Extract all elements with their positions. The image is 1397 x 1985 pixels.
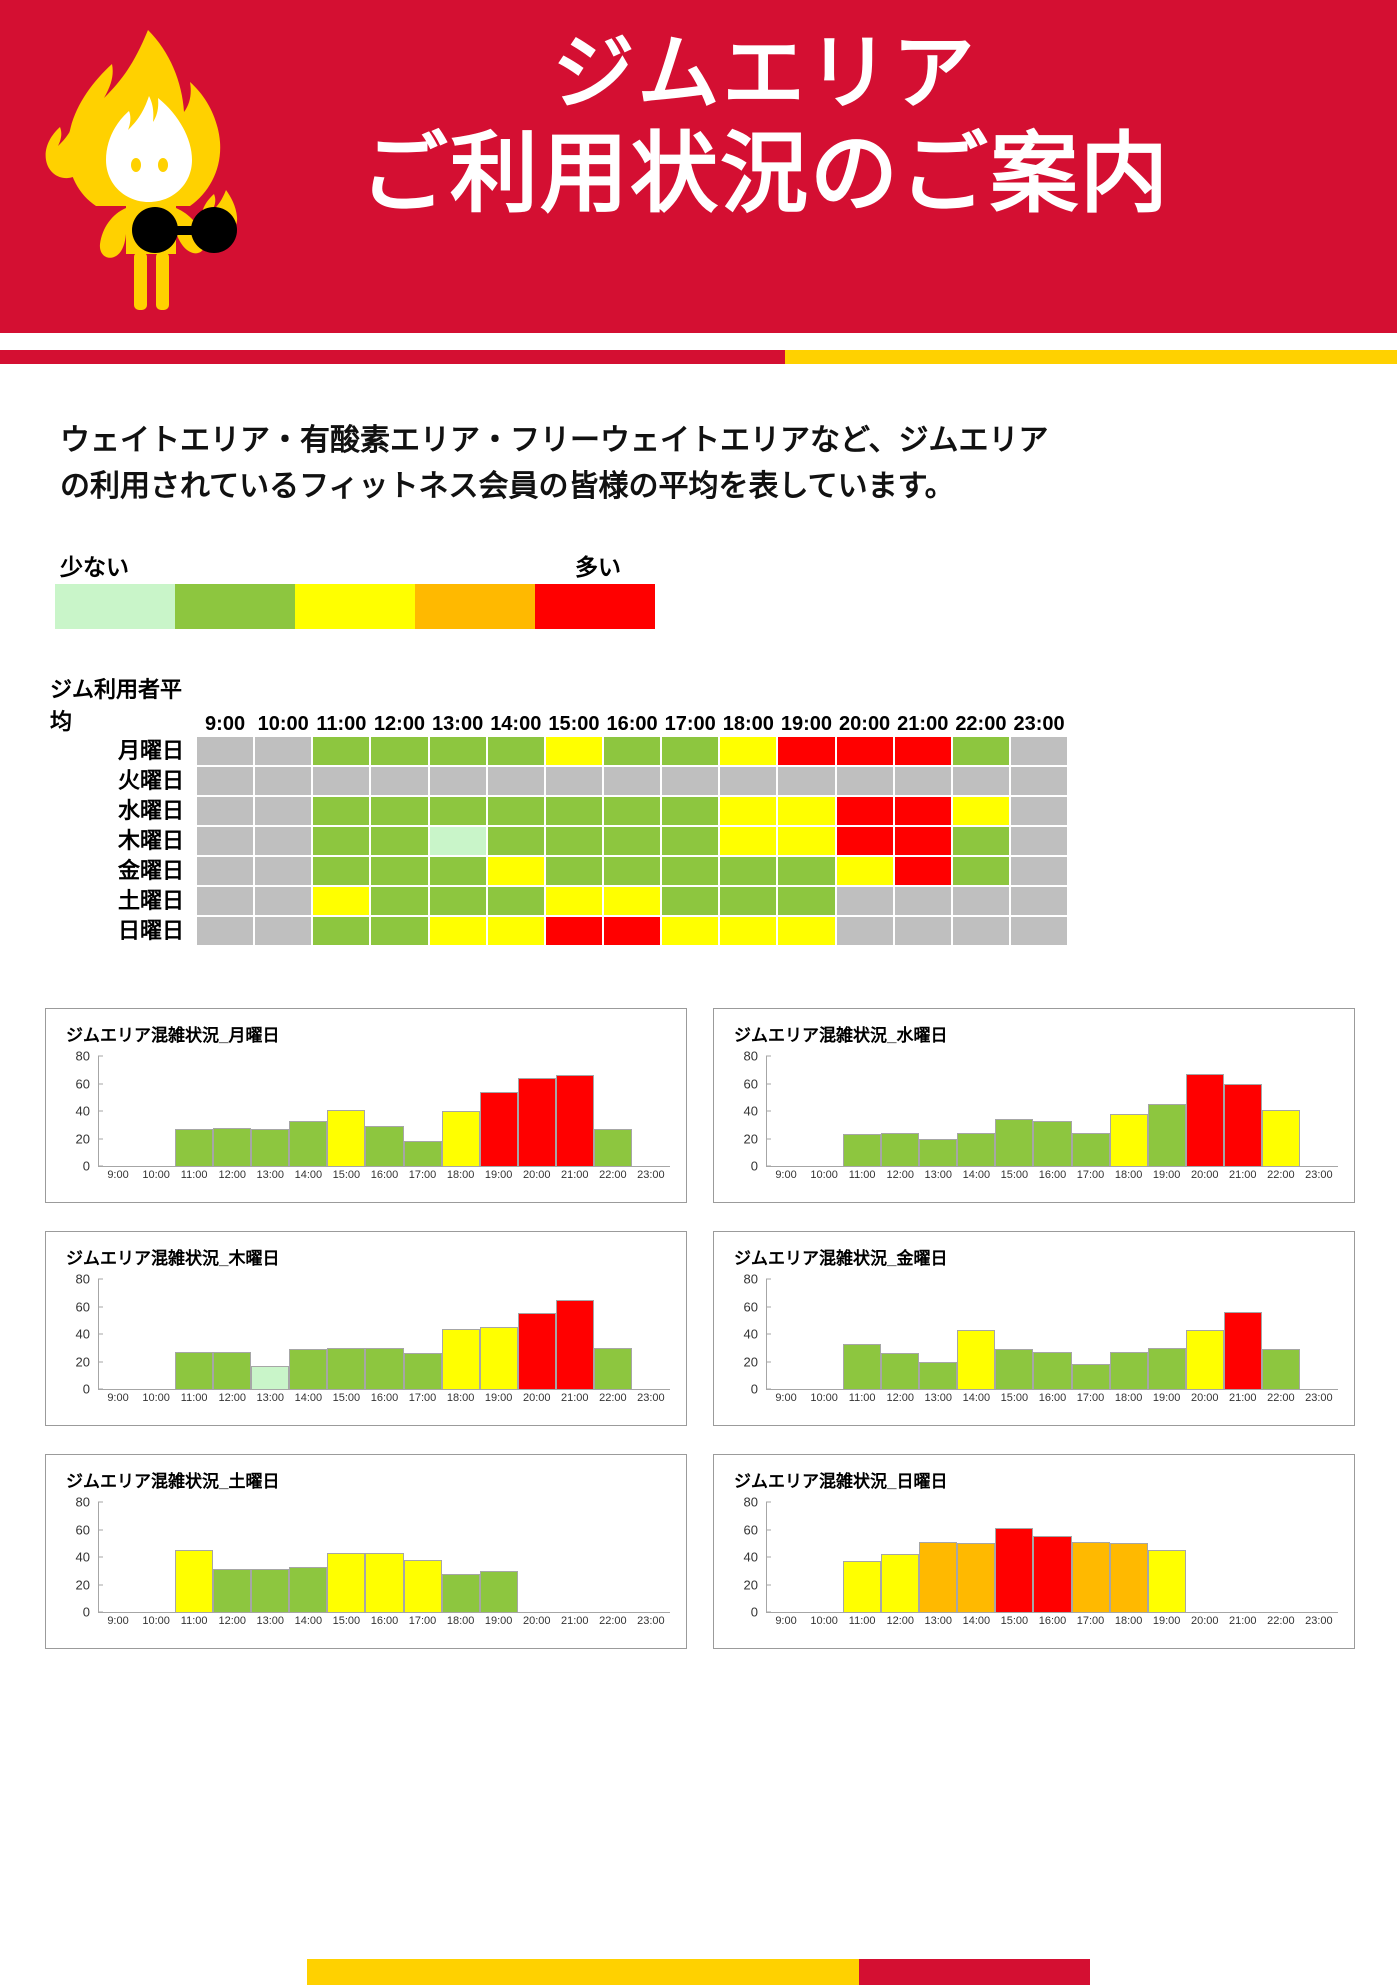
chart-bar[interactable] [251,1129,289,1166]
heatmap-row: 日曜日 [48,916,1068,946]
chart-x-tick: 18:00 [442,1615,480,1627]
heatmap-cell[interactable] [429,796,487,826]
chart-x-tick: 10:00 [137,1169,175,1181]
chart-bar[interactable] [327,1110,365,1166]
chart-bar-slot [1110,1279,1148,1389]
heatmap-cell[interactable] [836,796,894,826]
heatmap-cell[interactable] [836,886,894,916]
heatmap-cell[interactable] [545,916,603,946]
chart-bar[interactable] [843,1561,881,1612]
heatmap-cell[interactable] [661,856,719,886]
heatmap-cell[interactable] [312,916,370,946]
chart-bar[interactable] [957,1543,995,1612]
heatmap-cell[interactable] [370,856,428,886]
chart-x-tick: 10:00 [805,1169,843,1181]
heatmap-cell[interactable] [952,856,1010,886]
heatmap-cell[interactable] [603,826,661,856]
chart-bar[interactable] [1033,1121,1071,1166]
heatmap-cell[interactable] [894,736,952,766]
heatmap-cell[interactable] [777,856,835,886]
heatmap-body: 月曜日火曜日水曜日木曜日金曜日土曜日日曜日 [48,736,1068,946]
heatmap-row: 土曜日 [48,886,1068,916]
chart-bar-slot [213,1056,251,1166]
heatmap-cell[interactable] [894,796,952,826]
heatmap-cell[interactable] [1010,856,1068,886]
heatmap-cell[interactable] [894,886,952,916]
heatmap-cell[interactable] [196,856,254,886]
chart-bar[interactable] [1110,1543,1148,1612]
chart-bar[interactable] [995,1349,1033,1389]
chart-bar-slot [805,1279,843,1389]
chart-bar[interactable] [175,1352,213,1389]
heatmap-cell[interactable] [545,826,603,856]
chart-x-tick: 18:00 [1110,1169,1148,1181]
chart-bar[interactable] [404,1560,442,1612]
chart-x-tick: 20:00 [1186,1392,1224,1404]
chart-bar-slot [175,1502,213,1612]
chart-title: ジムエリア混雑状況_土曜日 [66,1467,676,1492]
heatmap-cell[interactable] [661,886,719,916]
chart-x-tick: 19:00 [1148,1392,1186,1404]
heatmap-time-2100: 21:00 [894,713,952,736]
chart-x-tick: 9:00 [99,1615,137,1627]
chart-x-tick: 17:00 [404,1169,442,1181]
chart-x-tick: 9:00 [767,1169,805,1181]
chart-bar[interactable] [442,1111,480,1166]
heatmap-cell[interactable] [254,856,312,886]
chart-bar[interactable] [919,1139,957,1167]
chart-panel: ジムエリア混雑状況_日曜日0204060809:0010:0011:0012:0… [713,1454,1355,1649]
chart-bar-slot [556,1502,594,1612]
chart-bar-slot [632,1279,670,1389]
heatmap-row: 月曜日 [48,736,1068,766]
legend-segment-4 [535,584,655,629]
heatmap-cell[interactable] [952,916,1010,946]
heatmap-cell[interactable] [429,886,487,916]
chart-bar[interactable] [556,1075,594,1166]
heatmap-cell[interactable] [777,886,835,916]
heatmap-cell[interactable] [952,766,1010,796]
chart-bar[interactable] [919,1542,957,1612]
chart-x-tick: 15:00 [995,1615,1033,1627]
chart-bar-slot [99,1056,137,1166]
chart-bar[interactable] [175,1129,213,1166]
chart-panel: ジムエリア混雑状況_金曜日0204060809:0010:0011:0012:0… [713,1231,1355,1426]
heatmap-cell[interactable] [661,796,719,826]
heatmap-cell[interactable] [429,766,487,796]
heatmap-cell[interactable] [836,826,894,856]
heatmap-cell[interactable] [1010,736,1068,766]
heatmap-cell[interactable] [894,826,952,856]
heatmap-cell[interactable] [370,886,428,916]
chart-x-tick: 10:00 [137,1392,175,1404]
chart-bar[interactable] [289,1349,327,1389]
heatmap-day-label: 土曜日 [48,886,196,916]
heatmap-cell[interactable] [196,736,254,766]
heatmap-cell[interactable] [603,766,661,796]
heatmap-cell[interactable] [312,796,370,826]
chart-bar[interactable] [843,1344,881,1389]
heatmap-cell[interactable] [312,856,370,886]
chart-bar[interactable] [404,1141,442,1166]
chart-bar[interactable] [881,1554,919,1612]
heatmap-cell[interactable] [894,766,952,796]
chart-bar[interactable] [1148,1104,1186,1166]
heatmap-cells [196,736,1068,766]
chart-panel: ジムエリア混雑状況_木曜日0204060809:0010:0011:0012:0… [45,1231,687,1426]
chart-bar[interactable] [1148,1550,1186,1612]
heatmap-time-1100: 11:00 [312,713,370,736]
heatmap-cell[interactable] [719,736,777,766]
footer-yellow-segment [307,1959,859,1985]
heatmap-cell[interactable] [661,826,719,856]
heatmap-cell[interactable] [196,796,254,826]
chart-x-tick: 18:00 [442,1392,480,1404]
heatmap-day-label: 金曜日 [48,856,196,886]
heatmap-cell[interactable] [719,796,777,826]
chart-x-tick: 16:00 [365,1392,403,1404]
chart-bar-slot [556,1279,594,1389]
heatmap-cell[interactable] [777,736,835,766]
chart-axis-horizontal [98,1389,670,1390]
chart-x-tick: 21:00 [556,1169,594,1181]
heatmap-cell[interactable] [719,856,777,886]
chart-y-tick: 0 [722,1159,758,1174]
heatmap-cell[interactable] [254,826,312,856]
legend-low-label: 少ない [60,548,129,582]
heatmap-cell[interactable] [312,766,370,796]
chart-bar[interactable] [1072,1364,1110,1389]
chart-bar-slot [594,1279,632,1389]
heatmap-cell[interactable] [603,796,661,826]
chart-x-tick: 20:00 [518,1615,556,1627]
chart-bar[interactable] [1262,1110,1300,1166]
chart-y-tick: 80 [722,1272,758,1287]
chart-title: ジムエリア混雑状況_金曜日 [734,1244,1344,1269]
heatmap-cell[interactable] [1010,766,1068,796]
chart-bar-slot [843,1056,881,1166]
chart-x-tick: 23:00 [632,1169,670,1181]
heatmap-cell[interactable] [1010,796,1068,826]
chart-bar-slot [365,1056,403,1166]
chart-bar-slot [805,1056,843,1166]
heatmap-cell[interactable] [487,916,545,946]
chart-x-tick: 12:00 [213,1169,251,1181]
chart-panel: ジムエリア混雑状況_水曜日0204060809:0010:0011:0012:0… [713,1008,1355,1203]
chart-x-tick: 14:00 [289,1169,327,1181]
heatmap-cell[interactable] [836,916,894,946]
heatmap-cell[interactable] [370,766,428,796]
heatmap-cell[interactable] [545,766,603,796]
heatmap-cell[interactable] [545,886,603,916]
chart-bar[interactable] [365,1126,403,1166]
chart-bar-slot [919,1502,957,1612]
heatmap-cell[interactable] [952,826,1010,856]
legend-labels: 少ない 多い [55,548,665,580]
heatmap-cell[interactable] [952,736,1010,766]
heatmap-cell[interactable] [836,766,894,796]
heatmap-cell[interactable] [603,856,661,886]
heatmap-cell[interactable] [254,766,312,796]
heatmap-cell[interactable] [777,796,835,826]
heatmap-cell[interactable] [777,826,835,856]
chart-x-tick: 21:00 [1224,1392,1262,1404]
chart-plot-area [99,1056,670,1166]
chart-axis-horizontal [766,1389,1338,1390]
chart-x-tick: 23:00 [1300,1392,1338,1404]
chart-bar[interactable] [518,1313,556,1389]
heatmap-cell[interactable] [429,916,487,946]
chart-x-tick: 17:00 [404,1615,442,1627]
chart-plot-area [767,1502,1338,1612]
chart-y-tick: 60 [722,1522,758,1537]
heatmap-cell[interactable] [836,736,894,766]
chart-axis-horizontal [766,1166,1338,1167]
chart-bar-slot [1110,1056,1148,1166]
heatmap-cell[interactable] [429,826,487,856]
chart-bar[interactable] [1186,1074,1224,1166]
heatmap-cell[interactable] [196,826,254,856]
chart-x-tick: 22:00 [594,1169,632,1181]
chart-bar[interactable] [1072,1133,1110,1166]
chart-y-axis: 020406080 [54,1279,98,1389]
heatmap-cell[interactable] [312,736,370,766]
heatmap-cell[interactable] [1010,916,1068,946]
chart-bar-slot [1148,1502,1186,1612]
chart-y-tick: 20 [54,1577,90,1592]
heatmap-cell[interactable] [719,916,777,946]
chart-x-tick: 13:00 [919,1615,957,1627]
chart-bar[interactable] [1262,1349,1300,1389]
heatmap-cell[interactable] [196,886,254,916]
heatmap-cell[interactable] [1010,886,1068,916]
chart-x-tick: 16:00 [1033,1615,1071,1627]
chart-bar[interactable] [995,1528,1033,1612]
chart-bar[interactable] [327,1348,365,1389]
footer-red-segment [859,1959,1090,1985]
heatmap-cell[interactable] [312,826,370,856]
heatmap-cell[interactable] [429,736,487,766]
chart-x-tick: 10:00 [805,1615,843,1627]
chart-x-tick: 11:00 [175,1615,213,1627]
chart-bar-slot [137,1056,175,1166]
chart-panel: ジムエリア混雑状況_月曜日0204060809:0010:0011:0012:0… [45,1008,687,1203]
chart-bar-slot [251,1279,289,1389]
chart-bar-slot [480,1279,518,1389]
chart-x-tick: 20:00 [518,1169,556,1181]
heatmap-cell[interactable] [370,796,428,826]
heatmap-cell[interactable] [952,796,1010,826]
heatmap-row: 金曜日 [48,856,1068,886]
chart-x-axis: 9:0010:0011:0012:0013:0014:0015:0016:001… [99,1392,670,1404]
chart-bar[interactable] [881,1133,919,1166]
heatmap-cell[interactable] [777,766,835,796]
chart-bar[interactable] [995,1119,1033,1166]
heatmap-cell[interactable] [312,886,370,916]
chart-x-axis: 9:0010:0011:0012:0013:0014:0015:0016:001… [99,1169,670,1181]
heatmap-cell[interactable] [487,766,545,796]
chart-bar[interactable] [289,1121,327,1166]
chart-bar[interactable] [1033,1536,1071,1612]
chart-bar[interactable] [594,1348,632,1389]
chart-bar-slot [175,1056,213,1166]
heatmap-cell[interactable] [429,856,487,886]
chart-x-tick: 18:00 [442,1169,480,1181]
heatmap-cell[interactable] [487,796,545,826]
chart-bar[interactable] [1033,1352,1071,1389]
chart-x-tick: 11:00 [175,1169,213,1181]
chart-bar[interactable] [556,1300,594,1389]
heatmap-cell[interactable] [952,886,1010,916]
chart-x-tick: 15:00 [995,1169,1033,1181]
chart-bar-slot [137,1279,175,1389]
chart-bar-slot [175,1279,213,1389]
chart-bar-slot [442,1056,480,1166]
chart-plot-area [767,1279,1338,1389]
chart-bar-slot [881,1056,919,1166]
chart-bar[interactable] [327,1553,365,1612]
chart-bar-slot [632,1502,670,1612]
chart-bar[interactable] [365,1348,403,1389]
heatmap-cell[interactable] [719,766,777,796]
heatmap-cell[interactable] [661,766,719,796]
chart-bar-slot [442,1279,480,1389]
chart-bar[interactable] [843,1134,881,1166]
chart-bar[interactable] [213,1352,251,1389]
chart-bar[interactable] [213,1128,251,1167]
chart-bar[interactable] [251,1366,289,1389]
chart-bar[interactable] [175,1550,213,1612]
chart-bar[interactable] [1148,1348,1186,1389]
chart-bar-slot [1072,1056,1110,1166]
heatmap-cell[interactable] [603,886,661,916]
chart-x-tick: 17:00 [1072,1615,1110,1627]
chart-bar[interactable] [213,1569,251,1612]
heatmap-cell[interactable] [545,856,603,886]
chart-bar[interactable] [957,1133,995,1166]
chart-bar-slot [1033,1056,1071,1166]
heatmap-cell[interactable] [196,916,254,946]
chart-title: ジムエリア混雑状況_水曜日 [734,1021,1344,1046]
chart-x-tick: 16:00 [1033,1169,1071,1181]
chart-bar-slot [327,1279,365,1389]
chart-bar[interactable] [289,1567,327,1612]
chart-y-tick: 20 [54,1131,90,1146]
heatmap-cell[interactable] [603,736,661,766]
heatmap-cell[interactable] [603,916,661,946]
heatmap-time-1600: 16:00 [603,713,661,736]
heatmap-cell[interactable] [545,736,603,766]
chart-x-tick: 19:00 [480,1392,518,1404]
chart-bar-slot [518,1502,556,1612]
heatmap-cell[interactable] [487,856,545,886]
chart-x-tick: 22:00 [1262,1615,1300,1627]
chart-x-tick: 17:00 [404,1392,442,1404]
divider-yellow-segment [785,350,1397,364]
heatmap-cell[interactable] [487,826,545,856]
chart-bar[interactable] [365,1553,403,1612]
chart-bar[interactable] [881,1353,919,1389]
chart-bar[interactable] [1110,1352,1148,1389]
heatmap-cell[interactable] [836,856,894,886]
heatmap-cell[interactable] [254,916,312,946]
heatmap-cell[interactable] [661,736,719,766]
heatmap-cell[interactable] [777,916,835,946]
heatmap-cell[interactable] [719,886,777,916]
chart-x-tick: 10:00 [805,1392,843,1404]
chart-bar[interactable] [1224,1084,1262,1167]
heatmap-time-900: 9:00 [196,713,254,736]
heatmap-cell[interactable] [254,886,312,916]
chart-bar[interactable] [919,1362,957,1390]
heatmap-cell[interactable] [487,736,545,766]
chart-x-tick: 22:00 [594,1615,632,1627]
heatmap-time-1400: 14:00 [487,713,545,736]
chart-bar-slot [480,1502,518,1612]
heatmap-time-2200: 22:00 [952,713,1010,736]
chart-bar[interactable] [594,1129,632,1166]
chart-bar-slot [213,1279,251,1389]
heatmap-cell[interactable] [370,826,428,856]
heatmap-cell[interactable] [894,856,952,886]
chart-bar-slot [1033,1502,1071,1612]
chart-x-tick: 21:00 [1224,1169,1262,1181]
heatmap-cell[interactable] [719,826,777,856]
heatmap-cell[interactable] [254,736,312,766]
chart-y-tick: 20 [722,1577,758,1592]
chart-bar[interactable] [442,1329,480,1390]
chart-bar[interactable] [404,1353,442,1389]
chart-title: ジムエリア混雑状況_月曜日 [66,1021,676,1046]
chart-y-tick: 80 [722,1049,758,1064]
chart-title: ジムエリア混雑状況_日曜日 [734,1467,1344,1492]
heatmap-cell[interactable] [370,736,428,766]
chart-bar[interactable] [480,1571,518,1612]
legend-segment-3 [415,584,535,629]
chart-plot-wrap: 0204060809:0010:0011:0012:0013:0014:0015… [54,1273,676,1421]
chart-bar-slot [404,1502,442,1612]
heatmap-cell[interactable] [545,796,603,826]
heatmap-cell[interactable] [196,766,254,796]
footer-white-left [0,1959,307,1985]
heatmap-cell[interactable] [254,796,312,826]
heatmap-cell[interactable] [487,886,545,916]
chart-x-tick: 17:00 [1072,1392,1110,1404]
chart-bar[interactable] [1186,1330,1224,1389]
chart-y-tick: 0 [54,1605,90,1620]
chart-bar[interactable] [1110,1114,1148,1166]
heatmap-cell[interactable] [661,916,719,946]
chart-bar[interactable] [480,1092,518,1166]
heatmap-cell[interactable] [1010,826,1068,856]
footer-white-right [1090,1959,1397,1985]
chart-bar[interactable] [480,1327,518,1389]
chart-bar[interactable] [1072,1542,1110,1612]
chart-x-tick: 23:00 [1300,1615,1338,1627]
heatmap-time-1000: 10:00 [254,713,312,736]
page-title-line2: ご利用状況のご案内 [180,125,1350,224]
chart-bar[interactable] [518,1078,556,1166]
chart-bar[interactable] [1224,1312,1262,1389]
heatmap-cell[interactable] [894,916,952,946]
heatmap-cell[interactable] [370,916,428,946]
chart-bar[interactable] [251,1569,289,1612]
chart-bar[interactable] [442,1574,480,1613]
chart-bar-slot [767,1502,805,1612]
chart-bar[interactable] [957,1330,995,1389]
chart-bar-slot [404,1279,442,1389]
heatmap-row: 火曜日 [48,766,1068,796]
